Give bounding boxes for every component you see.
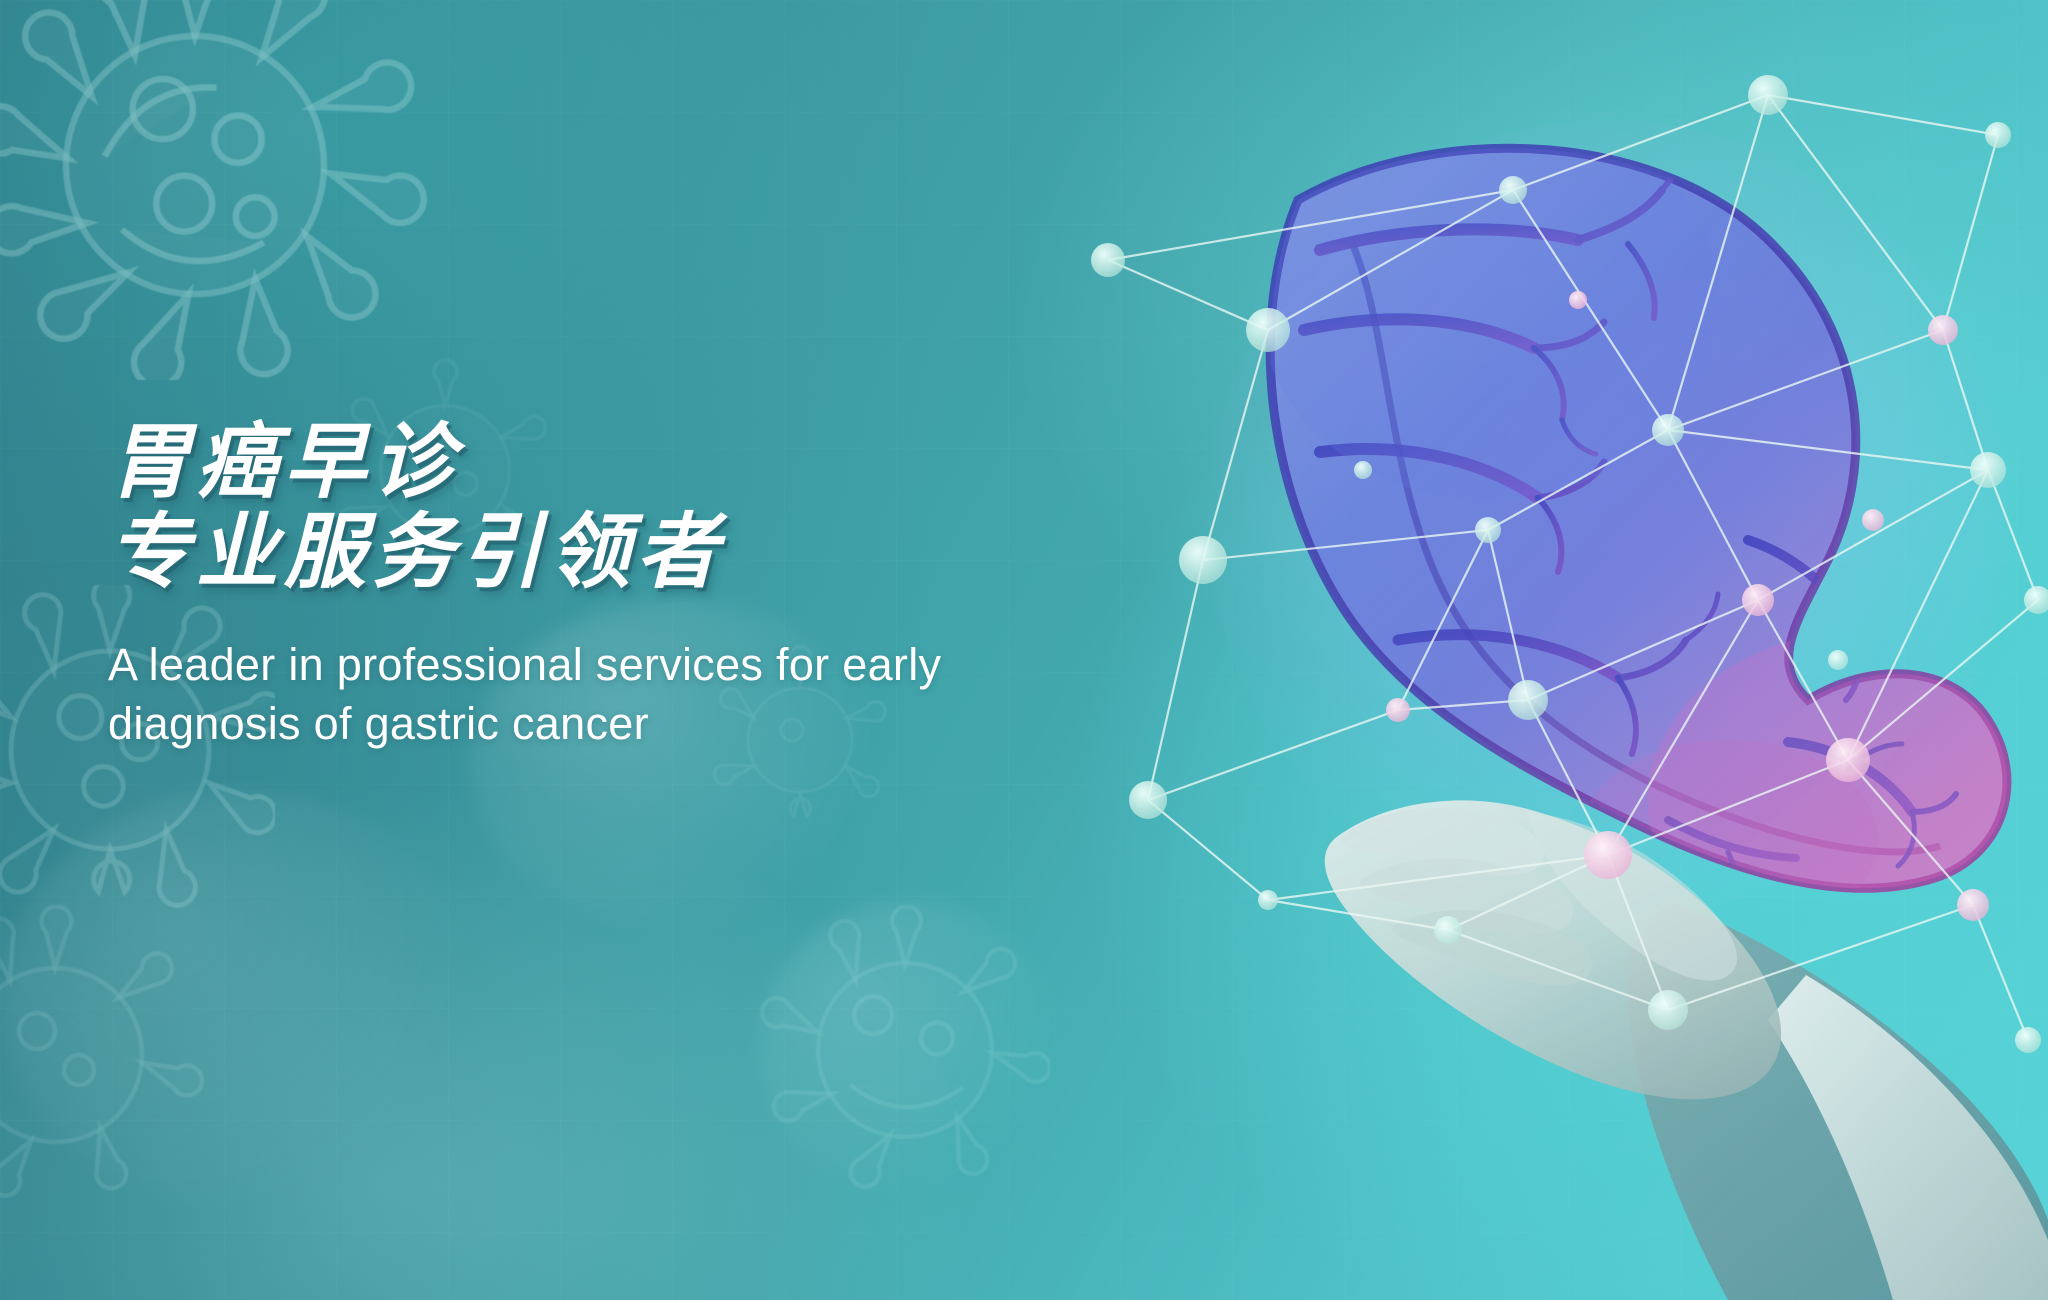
page-subtitle: A leader in professional services for ea…	[108, 636, 1108, 753]
subtitle-line-2: diagnosis of gastric cancer	[108, 695, 1108, 754]
headline-line-1: 胃癌早诊	[108, 415, 460, 510]
virus-icon	[0, 905, 205, 1205]
virus-icon	[0, 0, 430, 380]
hero-copy: 胃癌早诊 专业服务引领者 A leader in professional se…	[108, 418, 1188, 753]
page-title: 胃癌早诊 专业服务引领者	[108, 418, 1188, 598]
headline-line-2: 专业服务引领者	[108, 508, 1188, 598]
hero-banner: 胃癌早诊 专业服务引领者 A leader in professional se…	[0, 0, 2048, 1300]
subtitle-line-1: A leader in professional services for ea…	[108, 636, 1108, 695]
